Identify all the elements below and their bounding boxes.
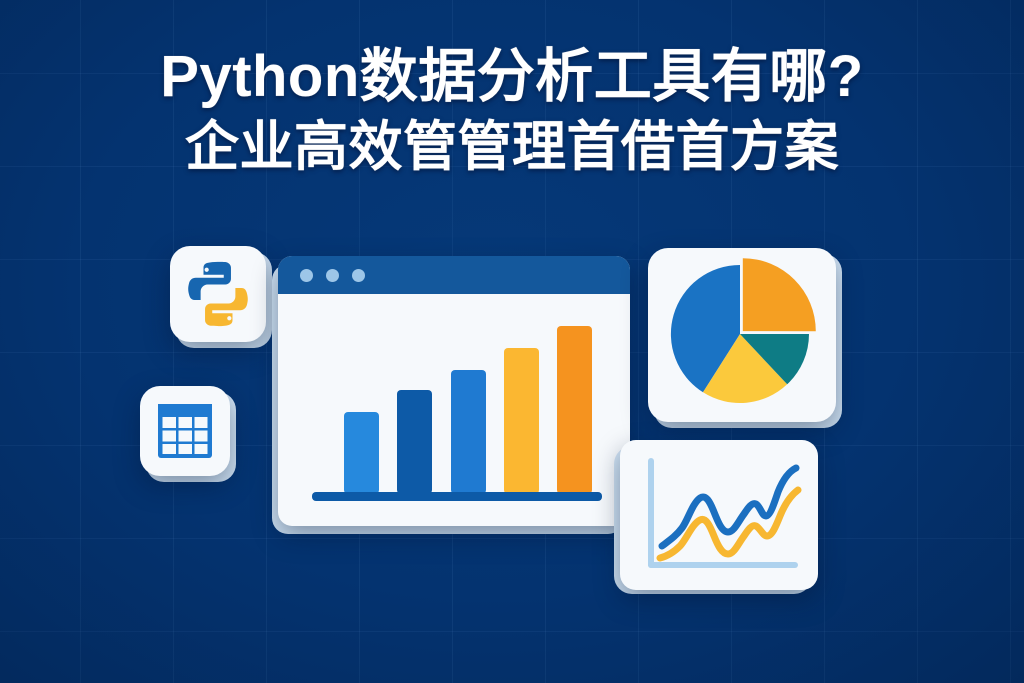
window-dot-maximize-icon[interactable] bbox=[352, 269, 365, 282]
python-icon-card[interactable]: Python bbox=[170, 246, 266, 342]
pie-chart-card[interactable] bbox=[648, 248, 836, 422]
bar-4 bbox=[504, 348, 539, 494]
magnifier-label bbox=[0, 0, 1, 1]
bar-5 bbox=[557, 326, 592, 494]
page-title-line-2: 企业高效管管理首借首方案 bbox=[0, 120, 1024, 174]
bar-chart-baseline bbox=[312, 492, 602, 501]
bar-chart-window[interactable] bbox=[278, 256, 630, 526]
pie-slice-orange bbox=[743, 258, 816, 331]
window-dot-close-icon[interactable] bbox=[300, 269, 313, 282]
bar-2 bbox=[397, 390, 432, 494]
pie-chart-svg bbox=[648, 248, 836, 422]
spreadsheet-grid-icon bbox=[140, 386, 230, 476]
page-title-line-1: Python数据分析工具有哪? bbox=[0, 48, 1024, 106]
poster-canvas: Python数据分析工具有哪? 企业高效管管理首借首方案 Python 数据表格 bbox=[0, 0, 1024, 683]
bar-chart-svg bbox=[278, 294, 630, 526]
magnifier-icon[interactable] bbox=[768, 494, 908, 634]
bar-3 bbox=[451, 370, 486, 494]
python-logo-icon bbox=[170, 246, 266, 342]
bar-1 bbox=[344, 412, 379, 494]
line-chart-y-axis bbox=[648, 458, 654, 568]
window-titlebar bbox=[278, 256, 630, 294]
headline-block: Python数据分析工具有哪? 企业高效管管理首借首方案 bbox=[0, 48, 1024, 174]
bar-chart-plot bbox=[278, 294, 630, 526]
spreadsheet-icon-card[interactable]: 数据表格 bbox=[140, 386, 230, 476]
window-dot-minimize-icon[interactable] bbox=[326, 269, 339, 282]
